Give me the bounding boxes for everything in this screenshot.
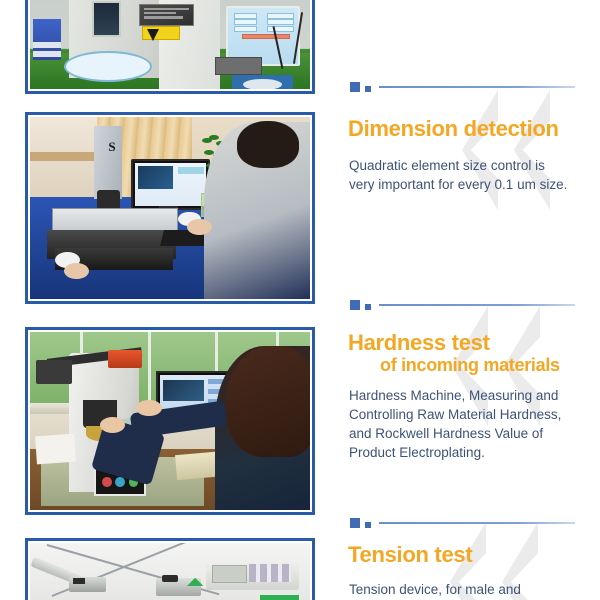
pressure-gauge xyxy=(64,51,152,82)
photo-column: S xyxy=(0,0,340,600)
heading-line-1: Hardness test xyxy=(348,332,560,355)
photo-image-4 xyxy=(30,543,310,600)
chamber-window xyxy=(92,1,121,37)
text-column: Dimension detection Quadratic element si… xyxy=(340,0,600,600)
square-large-icon xyxy=(350,82,360,92)
square-small-icon xyxy=(365,86,371,92)
section-divider xyxy=(350,516,575,530)
divider-rule xyxy=(379,86,575,88)
control-unit xyxy=(206,561,298,590)
section-body: Hardness Machine, Measuring and Controll… xyxy=(349,386,571,463)
photo-image-1 xyxy=(30,0,310,89)
section-tension-test: Tension test Tension device, for male an… xyxy=(340,508,600,600)
operator-head xyxy=(237,121,299,168)
section-heading: Dimension detection xyxy=(348,118,559,141)
chamber-label-plate xyxy=(139,4,194,27)
machine-logo: S xyxy=(108,139,115,155)
section-heading: Tension test xyxy=(348,544,472,567)
papers xyxy=(35,434,76,465)
square-small-icon xyxy=(365,522,371,528)
section-dimension-detection: Dimension detection Quadratic element si… xyxy=(340,72,600,290)
heading-line-1: Dimension detection xyxy=(348,118,559,141)
section-body: Quadratic element size control is very i… xyxy=(349,156,571,194)
square-large-icon xyxy=(350,518,360,528)
clamp-left xyxy=(69,577,105,593)
keypad xyxy=(249,564,291,582)
operator-hair xyxy=(226,346,310,456)
photo-hardness-test-workstation[interactable] xyxy=(25,327,315,515)
square-large-icon xyxy=(350,300,360,310)
warning-sticker xyxy=(142,26,180,40)
photo-tension-test-machine[interactable] xyxy=(25,538,315,600)
section-divider xyxy=(350,80,575,94)
heading-line-2: of incoming materials xyxy=(348,356,560,375)
green-accent-bar xyxy=(260,595,299,600)
measuring-machine-column xyxy=(94,126,122,199)
panel-button xyxy=(215,57,262,75)
divider-rule xyxy=(379,522,575,524)
photo-dimension-detection-workstation[interactable]: S xyxy=(25,112,315,304)
wall xyxy=(30,117,97,204)
timer-dial xyxy=(232,75,294,89)
square-small-icon xyxy=(365,304,371,310)
red-component xyxy=(108,350,142,368)
display-screen xyxy=(212,565,247,583)
blue-container xyxy=(33,19,61,60)
photo-image-2: S xyxy=(30,117,310,299)
photo-image-3 xyxy=(30,332,310,510)
section-divider xyxy=(350,298,575,312)
product-feature-page: S xyxy=(0,0,600,600)
heading-line-1: Tension test xyxy=(348,544,472,567)
section-body: Tension device, for male and xyxy=(349,580,571,599)
section-hardness-test: Hardness test of incoming materials Hard… xyxy=(340,290,600,508)
operator-hand-right xyxy=(136,400,161,416)
operator-hand-left xyxy=(64,263,89,279)
section-heading: Hardness test of incoming materials xyxy=(348,332,560,375)
camera-module xyxy=(36,360,72,383)
photo-salt-spray-test-chamber[interactable] xyxy=(25,0,315,94)
divider-rule xyxy=(379,304,575,306)
